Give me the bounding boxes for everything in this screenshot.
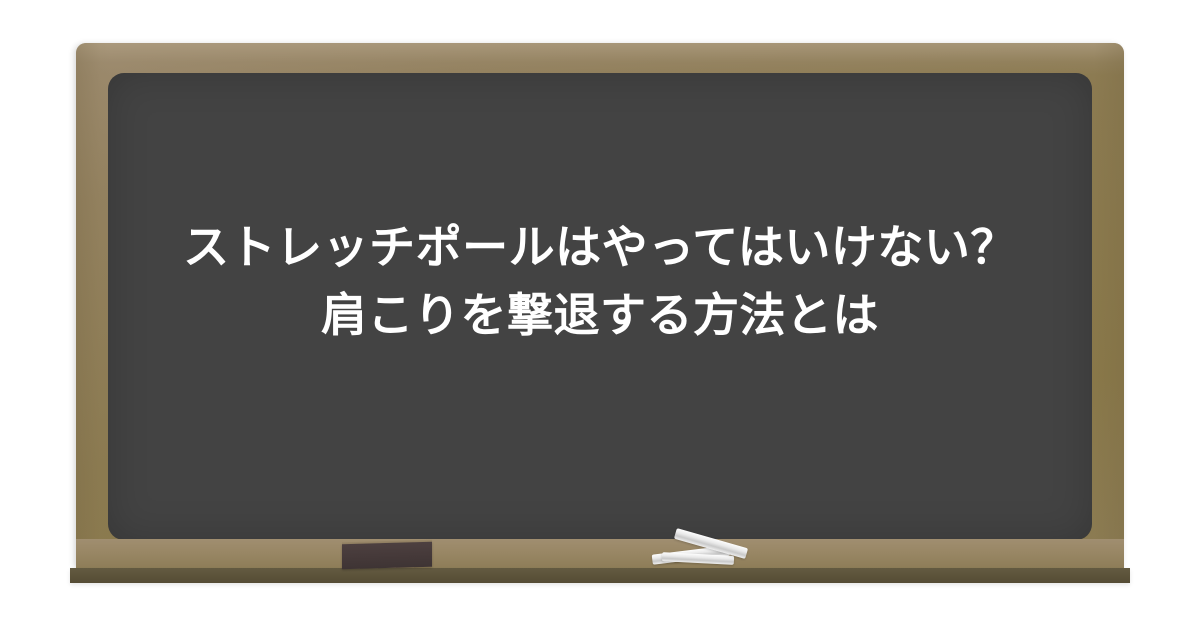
frame-left-shading (76, 43, 110, 568)
frame-top-highlight (76, 43, 1124, 75)
frame-right-shading (1094, 43, 1124, 568)
chalk-ledge (76, 539, 1124, 568)
title-line-2: 肩こりを撃退する方法とは (134, 281, 1066, 349)
blackboard-frame: ストレッチポールはやってはいけない？ 肩こりを撃退する方法とは (76, 43, 1124, 568)
blackboard-surface: ストレッチポールはやってはいけない？ 肩こりを撃退する方法とは (108, 73, 1092, 540)
chalk-sticks-icon (648, 534, 758, 568)
title-block: ストレッチポールはやってはいけない？ 肩こりを撃退する方法とは (108, 213, 1092, 349)
chalk-ledge-base (70, 568, 1130, 583)
title-line-1: ストレッチポールはやってはいけない？ (134, 213, 1066, 281)
page-canvas: ストレッチポールはやってはいけない？ 肩こりを撃退する方法とは (0, 0, 1200, 630)
eraser-body (342, 542, 432, 570)
blackboard-eraser-icon (342, 540, 432, 568)
